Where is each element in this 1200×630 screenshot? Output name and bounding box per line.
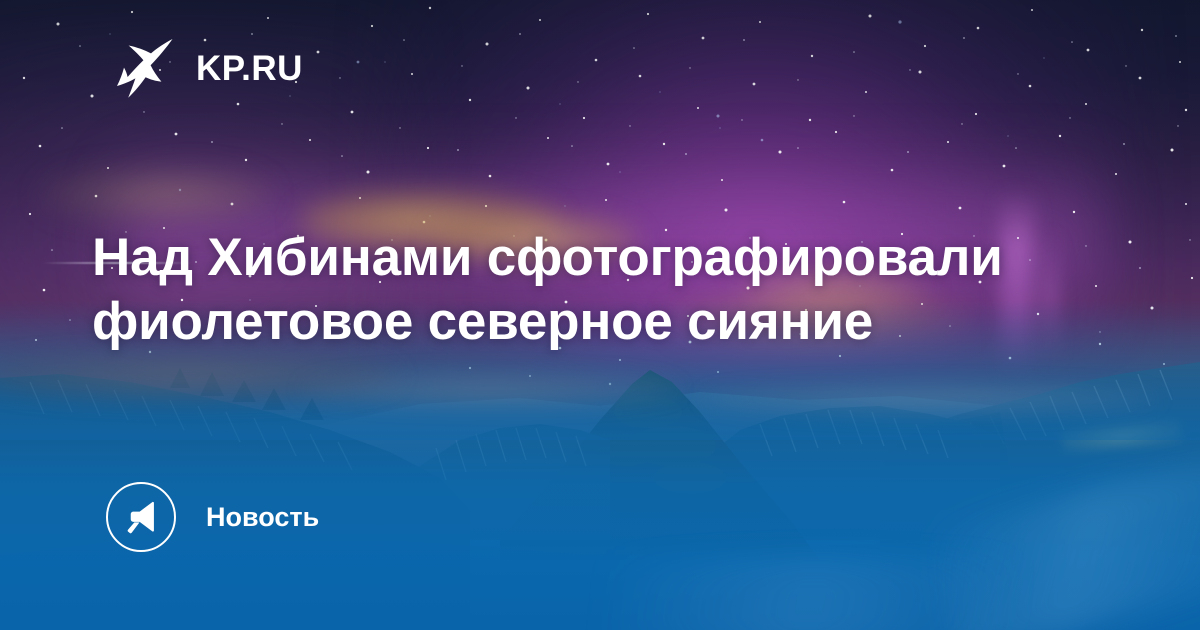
brand-logo[interactable]: KP.RU <box>110 36 303 100</box>
page-title: Над Хибинами сфотографировали фиолетовое… <box>92 226 1102 353</box>
content-type-badge[interactable]: Новость <box>106 482 319 552</box>
social-share-card: KP.RU Над Хибинами сфотографировали фиол… <box>0 0 1200 630</box>
brand-name: KP.RU <box>196 51 303 86</box>
megaphone-icon <box>122 498 160 536</box>
swallow-bird-icon <box>110 36 174 100</box>
card-content: KP.RU Над Хибинами сфотографировали фиол… <box>0 0 1200 630</box>
badge-label: Новость <box>206 504 319 531</box>
badge-icon-circle <box>106 482 176 552</box>
